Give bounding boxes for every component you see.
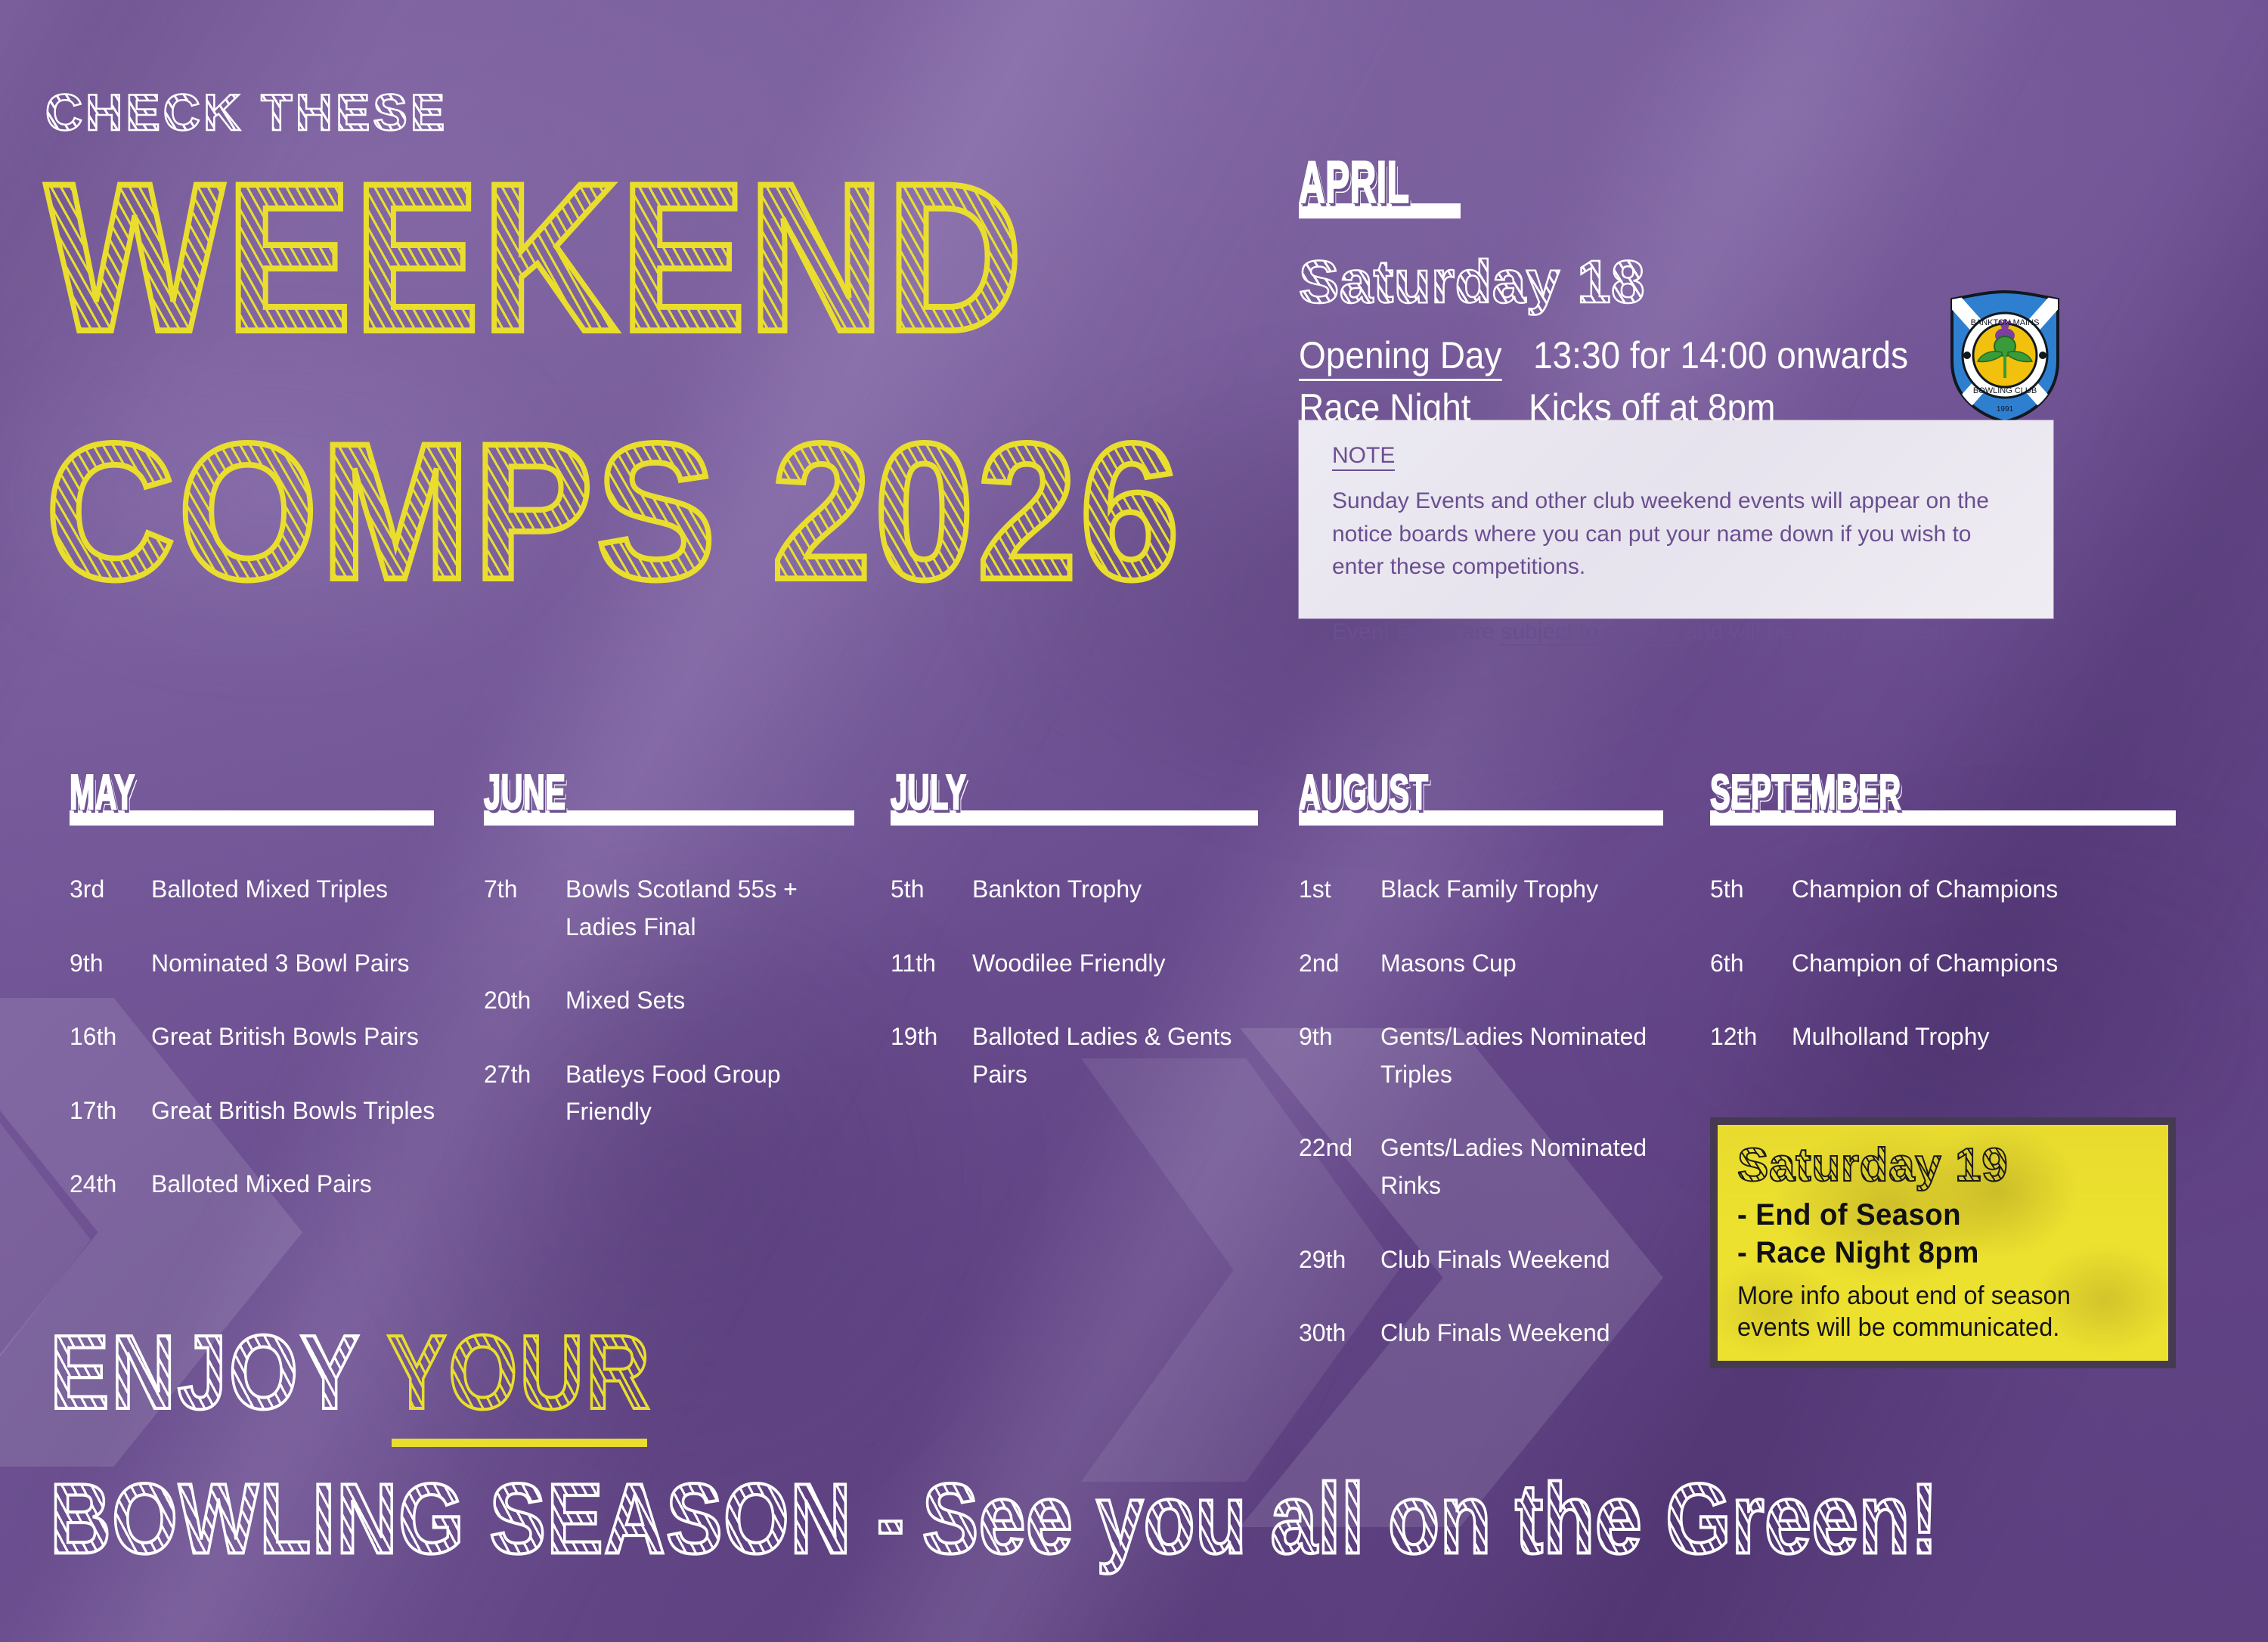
- end-of-season-bullet-2: - Race Night 8pm: [1737, 1235, 2132, 1272]
- end-of-season-date: Saturday 19: [1737, 1139, 2149, 1192]
- crest-dot-right: [2039, 352, 2046, 359]
- event-date: 9th: [1299, 1018, 1380, 1056]
- list-item: 9thNominated 3 Bowl Pairs: [70, 945, 440, 983]
- june-event-list: 7thBowls Scotland 55s + Ladies Final 20t…: [484, 871, 862, 1131]
- month-column-september: SEPTEMBER 5thChampion of Champions 6thCh…: [1710, 764, 2179, 1092]
- headline-comps-2026: COMPS 2026: [45, 423, 1182, 602]
- event-date: 3rd: [70, 871, 151, 909]
- september-heading: SEPTEMBER: [1710, 764, 2176, 826]
- club-crest-logo: BANKTON MAINS BOWLING CLUB 1991: [1944, 289, 2065, 425]
- august-heading-text: AUGUST: [1299, 764, 1591, 820]
- headline-kicker: CHECK THESE: [45, 83, 448, 142]
- list-item: 5thBankton Trophy: [891, 871, 1261, 909]
- list-item: 29thClub Finals Weekend: [1299, 1241, 1669, 1279]
- list-item: 9thGents/Ladies Nominated Triples: [1299, 1018, 1669, 1093]
- footer-see-you: See you all on the Green!: [922, 1461, 1938, 1576]
- event-title: Bowls Scotland 55s + Ladies Final: [565, 871, 862, 946]
- event-date: 17th: [70, 1092, 151, 1130]
- note-paragraph-2-pre: Event Dates are: [1332, 619, 1501, 644]
- event-title: Masons Cup: [1380, 945, 1517, 983]
- event-date: 12th: [1710, 1018, 1792, 1056]
- event-date: 11th: [891, 945, 972, 983]
- note-box: NOTE Sunday Events and other club weeken…: [1299, 420, 2053, 618]
- august-heading: AUGUST: [1299, 764, 1663, 826]
- april-heading: APRIL: [1299, 148, 1461, 218]
- month-column-may: MAY 3rdBalloted Mixed Triples 9thNominat…: [70, 764, 440, 1240]
- june-heading-text: JUNE: [484, 764, 780, 820]
- note-paragraph-1: Sunday Events and other club weekend eve…: [1332, 485, 2016, 584]
- note-title: NOTE: [1332, 443, 1395, 471]
- event-title: Balloted Mixed Triples: [151, 871, 388, 909]
- event-title: Great British Bowls Triples: [151, 1092, 435, 1130]
- event-date: 24th: [70, 1166, 151, 1204]
- poster-canvas: CHECK THESE WEEKEND COMPS 2026 APRIL Sat…: [0, 0, 2268, 1642]
- list-item: 11thWoodilee Friendly: [891, 945, 1261, 983]
- august-event-list: 1stBlack Family Trophy 2ndMasons Cup 9th…: [1299, 871, 1669, 1352]
- event-date: 5th: [1710, 871, 1792, 909]
- footer-line-1: ENJOYYOUR: [50, 1331, 1938, 1433]
- event-date: 20th: [484, 982, 565, 1020]
- list-item: 7thBowls Scotland 55s + Ladies Final: [484, 871, 862, 946]
- event-date: 29th: [1299, 1241, 1380, 1279]
- event-date: 9th: [70, 945, 151, 983]
- event-title: Mixed Sets: [565, 982, 685, 1020]
- may-heading-text: MAY: [70, 764, 361, 820]
- may-event-list: 3rdBalloted Mixed Triples 9thNominated 3…: [70, 871, 440, 1204]
- event-title: Champion of Champions: [1792, 945, 2058, 983]
- list-item: 12thMulholland Trophy: [1710, 1018, 2179, 1056]
- month-column-july: JULY 5thBankton Trophy 11thWoodilee Frie…: [891, 764, 1261, 1129]
- crest-club-line2: BOWLING CLUB: [1973, 386, 2037, 395]
- event-title: Woodilee Friendly: [972, 945, 1166, 983]
- list-item: 1stBlack Family Trophy: [1299, 871, 1669, 909]
- footer-your-underline: [392, 1439, 647, 1447]
- event-title: Nominated 3 Bowl Pairs: [151, 945, 409, 983]
- crest-dot-left: [1963, 352, 1971, 359]
- event-title: Batleys Food Group Friendly: [565, 1056, 862, 1131]
- event-date: 5th: [891, 871, 972, 909]
- event-date: 16th: [70, 1018, 151, 1056]
- list-item: 20thMixed Sets: [484, 982, 862, 1020]
- month-column-june: JUNE 7thBowls Scotland 55s + Ladies Fina…: [484, 764, 862, 1167]
- crest-year: 1991: [1997, 405, 2014, 414]
- headline-weekend: WEEKEND: [45, 160, 1182, 355]
- event-title: Balloted Mixed Pairs: [151, 1166, 372, 1204]
- event-title: Gents/Ladies Nominated Rinks: [1380, 1129, 1669, 1204]
- list-item: 6thChampion of Champions: [1710, 945, 2179, 983]
- list-item: 5thChampion of Champions: [1710, 871, 2179, 909]
- event-date: 22nd: [1299, 1129, 1380, 1167]
- list-item: 19thBalloted Ladies & Gents Pairs: [891, 1018, 1261, 1093]
- event-title: Great British Bowls Pairs: [151, 1018, 419, 1056]
- july-event-list: 5thBankton Trophy 11thWoodilee Friendly …: [891, 871, 1261, 1093]
- event-title: Balloted Ladies & Gents Pairs: [972, 1018, 1261, 1093]
- event-date: 2nd: [1299, 945, 1380, 983]
- list-item: 22ndGents/Ladies Nominated Rinks: [1299, 1129, 1669, 1204]
- event-date: 7th: [484, 871, 565, 909]
- footer-your: YOUR: [387, 1312, 652, 1433]
- note-paragraph-2: Event Dates are subject to change and wi…: [1332, 615, 2016, 649]
- footer-enjoy: ENJOY: [50, 1312, 361, 1433]
- list-item: 24thBalloted Mixed Pairs: [70, 1166, 440, 1204]
- september-heading-text: SEPTEMBER: [1710, 764, 2083, 820]
- opening-day-time: 13:30 for 14:00 onwards: [1533, 333, 1908, 377]
- list-item: 27thBatleys Food Group Friendly: [484, 1056, 862, 1131]
- event-title: Champion of Champions: [1792, 871, 2058, 909]
- note-subject-to-change: subject to change: [1501, 619, 1678, 646]
- list-item: 17thGreat British Bowls Triples: [70, 1092, 440, 1130]
- april-heading-text: APRIL: [1299, 148, 1428, 216]
- event-title: Club Finals Weekend: [1380, 1241, 1610, 1279]
- list-item: 16thGreat British Bowls Pairs: [70, 1018, 440, 1056]
- footer-your-wrap: YOUR: [387, 1331, 652, 1433]
- crest-club-line1: BANKTON MAINS: [1971, 318, 2040, 327]
- event-date: 6th: [1710, 945, 1792, 983]
- event-date: 27th: [484, 1056, 565, 1094]
- month-column-august: AUGUST 1stBlack Family Trophy 2ndMasons …: [1299, 764, 1669, 1389]
- event-date: 1st: [1299, 871, 1380, 909]
- note-paragraph-2-post: and will be communicated.: [1679, 619, 1953, 644]
- july-heading: JULY: [891, 764, 1258, 826]
- event-title: Bankton Trophy: [972, 871, 1142, 909]
- september-event-list: 5thChampion of Champions 6thChampion of …: [1710, 871, 2179, 1056]
- event-title: Mulholland Trophy: [1792, 1018, 1989, 1056]
- event-title: Gents/Ladies Nominated Triples: [1380, 1018, 1669, 1093]
- event-date: 19th: [891, 1018, 972, 1056]
- footer-line-2: BOWLING SEASON -See you all on the Green…: [50, 1479, 1938, 1576]
- list-item: 2ndMasons Cup: [1299, 945, 1669, 983]
- footer-bowling-season: BOWLING SEASON -: [50, 1461, 906, 1576]
- july-heading-text: JULY: [891, 764, 1185, 820]
- footer-block: ENJOYYOUR BOWLING SEASON -See you all on…: [50, 1331, 1938, 1576]
- may-heading: MAY: [70, 764, 434, 826]
- opening-day-label: Opening Day: [1299, 333, 1502, 381]
- event-title: Black Family Trophy: [1380, 871, 1598, 909]
- end-of-season-bullet-1: - End of Season: [1737, 1197, 2132, 1235]
- list-item: 3rdBalloted Mixed Triples: [70, 871, 440, 909]
- headline-block: CHECK THESE WEEKEND COMPS 2026: [45, 83, 1182, 589]
- june-heading: JUNE: [484, 764, 854, 826]
